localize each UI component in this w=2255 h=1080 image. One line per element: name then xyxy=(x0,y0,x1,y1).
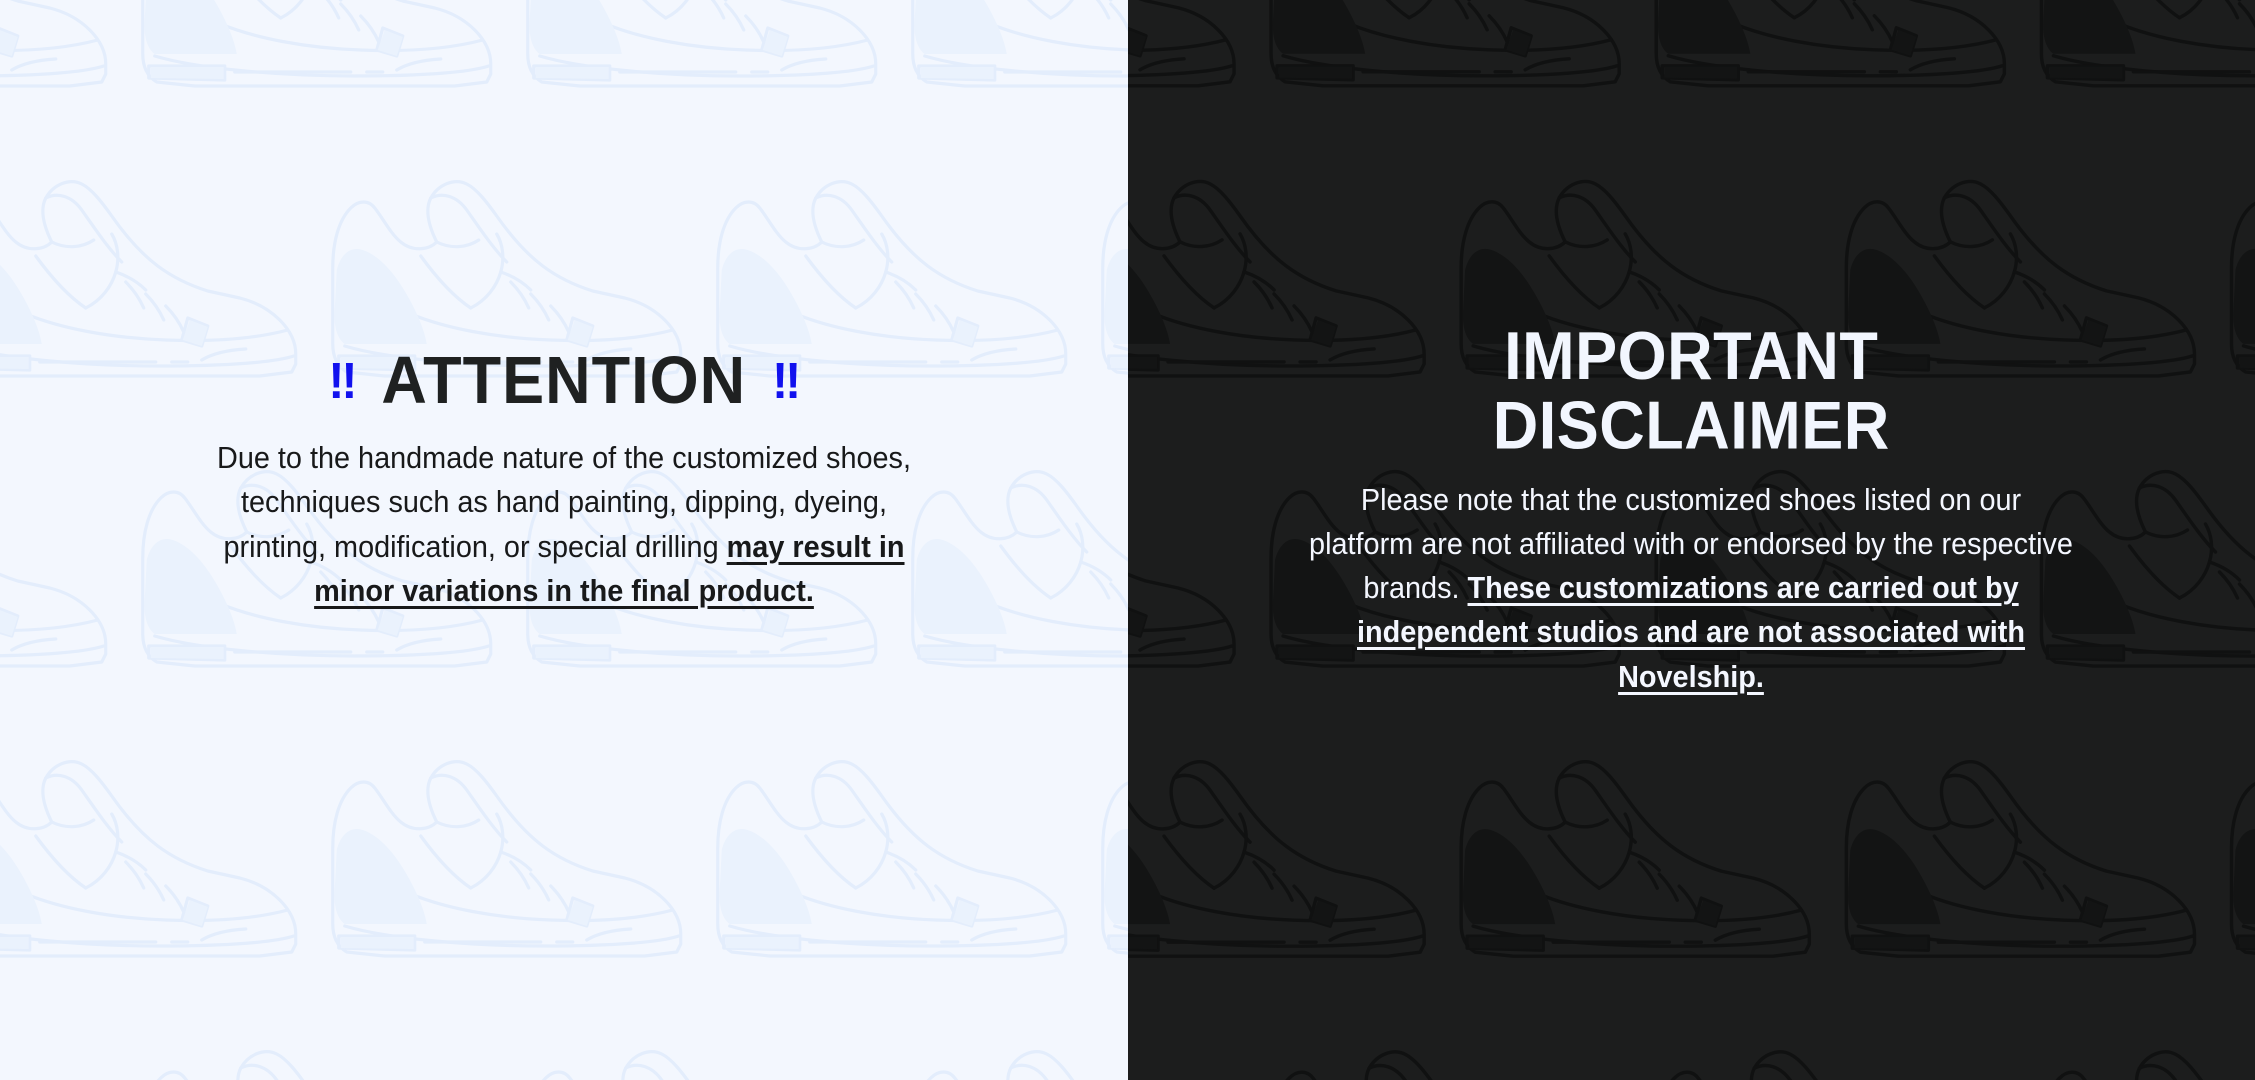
disclaimer-body: Please note that the customized shoes li… xyxy=(1305,478,2077,700)
disclaimer-heading-line-2: DISCLAIMER xyxy=(1128,391,2255,460)
attention-content: ‼ATTENTION‼ Due to the handmade nature o… xyxy=(0,0,1128,613)
attention-body: Due to the handmade nature of the custom… xyxy=(192,436,936,613)
attention-disclaimer-banner: ‼ATTENTION‼ Due to the handmade nature o… xyxy=(0,0,2255,1080)
disclaimer-heading-line-1: IMPORTANT xyxy=(1128,322,2255,391)
attention-heading-text: ATTENTION xyxy=(381,344,746,418)
double-exclamation-icon-right: ‼ xyxy=(772,353,799,409)
disclaimer-heading: IMPORTANT DISCLAIMER xyxy=(1128,322,2255,461)
attention-heading: ‼ATTENTION‼ xyxy=(0,348,1128,415)
disclaimer-content: IMPORTANT DISCLAIMER Please note that th… xyxy=(1128,0,2255,699)
disclaimer-panel: IMPORTANT DISCLAIMER Please note that th… xyxy=(1128,0,2255,1080)
attention-panel: ‼ATTENTION‼ Due to the handmade nature o… xyxy=(0,0,1128,1080)
double-exclamation-icon-left: ‼ xyxy=(328,353,355,409)
